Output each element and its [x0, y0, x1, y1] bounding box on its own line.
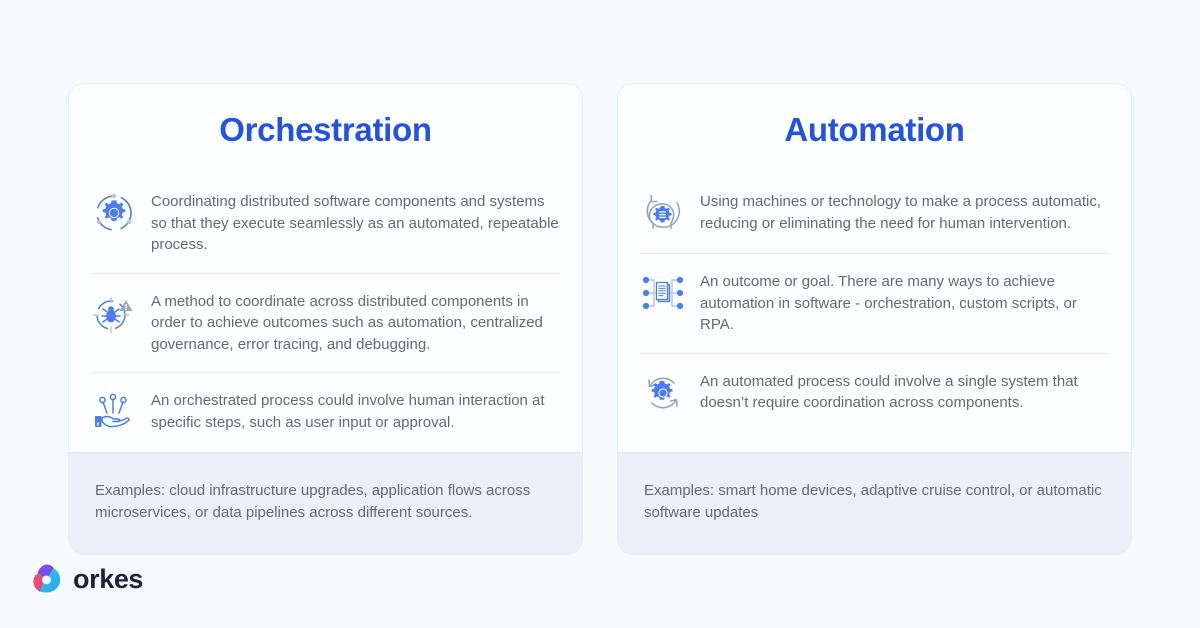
feature-row: An orchestrated process could involve hu…	[91, 373, 560, 452]
feature-row: An outcome or goal. There are many ways …	[640, 254, 1109, 354]
hand-nodes-icon	[91, 389, 137, 435]
card-body-automation: Using machines or technology to make a p…	[618, 174, 1131, 452]
comparison-infographic: Orchestration	[0, 0, 1200, 628]
orkes-logo-mark-icon	[30, 562, 64, 596]
feature-row: A method to coordinate across distribute…	[91, 274, 560, 374]
feature-row: An automated process could involve a sin…	[640, 354, 1109, 433]
card-body-orchestration: Coordinating distributed software compon…	[69, 174, 582, 452]
feature-row: Using machines or technology to make a p…	[640, 174, 1109, 254]
feature-row: Coordinating distributed software compon…	[91, 174, 560, 274]
card-footer-orchestration: Examples: cloud infrastructure upgrades,…	[69, 452, 582, 554]
feature-row-text: A method to coordinate across distribute…	[151, 290, 560, 356]
brand-name: orkes	[73, 566, 143, 593]
gear-refresh-icon	[640, 370, 686, 416]
card-title-automation: Automation	[618, 84, 1131, 174]
document-nodes-icon	[640, 270, 686, 316]
card-automation: Automation	[617, 83, 1132, 555]
card-title-orchestration: Orchestration	[69, 84, 582, 174]
feature-row-text: Coordinating distributed software compon…	[151, 190, 560, 256]
bug-debug-warning-icon	[91, 290, 137, 336]
feature-row-text: An orchestrated process could involve hu…	[151, 389, 560, 433]
brand-logo: orkes	[30, 562, 143, 596]
feature-row-text: An outcome or goal. There are many ways …	[700, 270, 1109, 336]
cards-container: Orchestration	[68, 83, 1132, 555]
feature-row-text: Using machines or technology to make a p…	[700, 190, 1109, 234]
feature-row-text: An automated process could involve a sin…	[700, 370, 1109, 414]
head-gear-icon	[640, 190, 686, 236]
card-footer-automation: Examples: smart home devices, adaptive c…	[618, 452, 1131, 554]
card-orchestration: Orchestration	[68, 83, 583, 555]
gear-network-icon	[91, 190, 137, 236]
